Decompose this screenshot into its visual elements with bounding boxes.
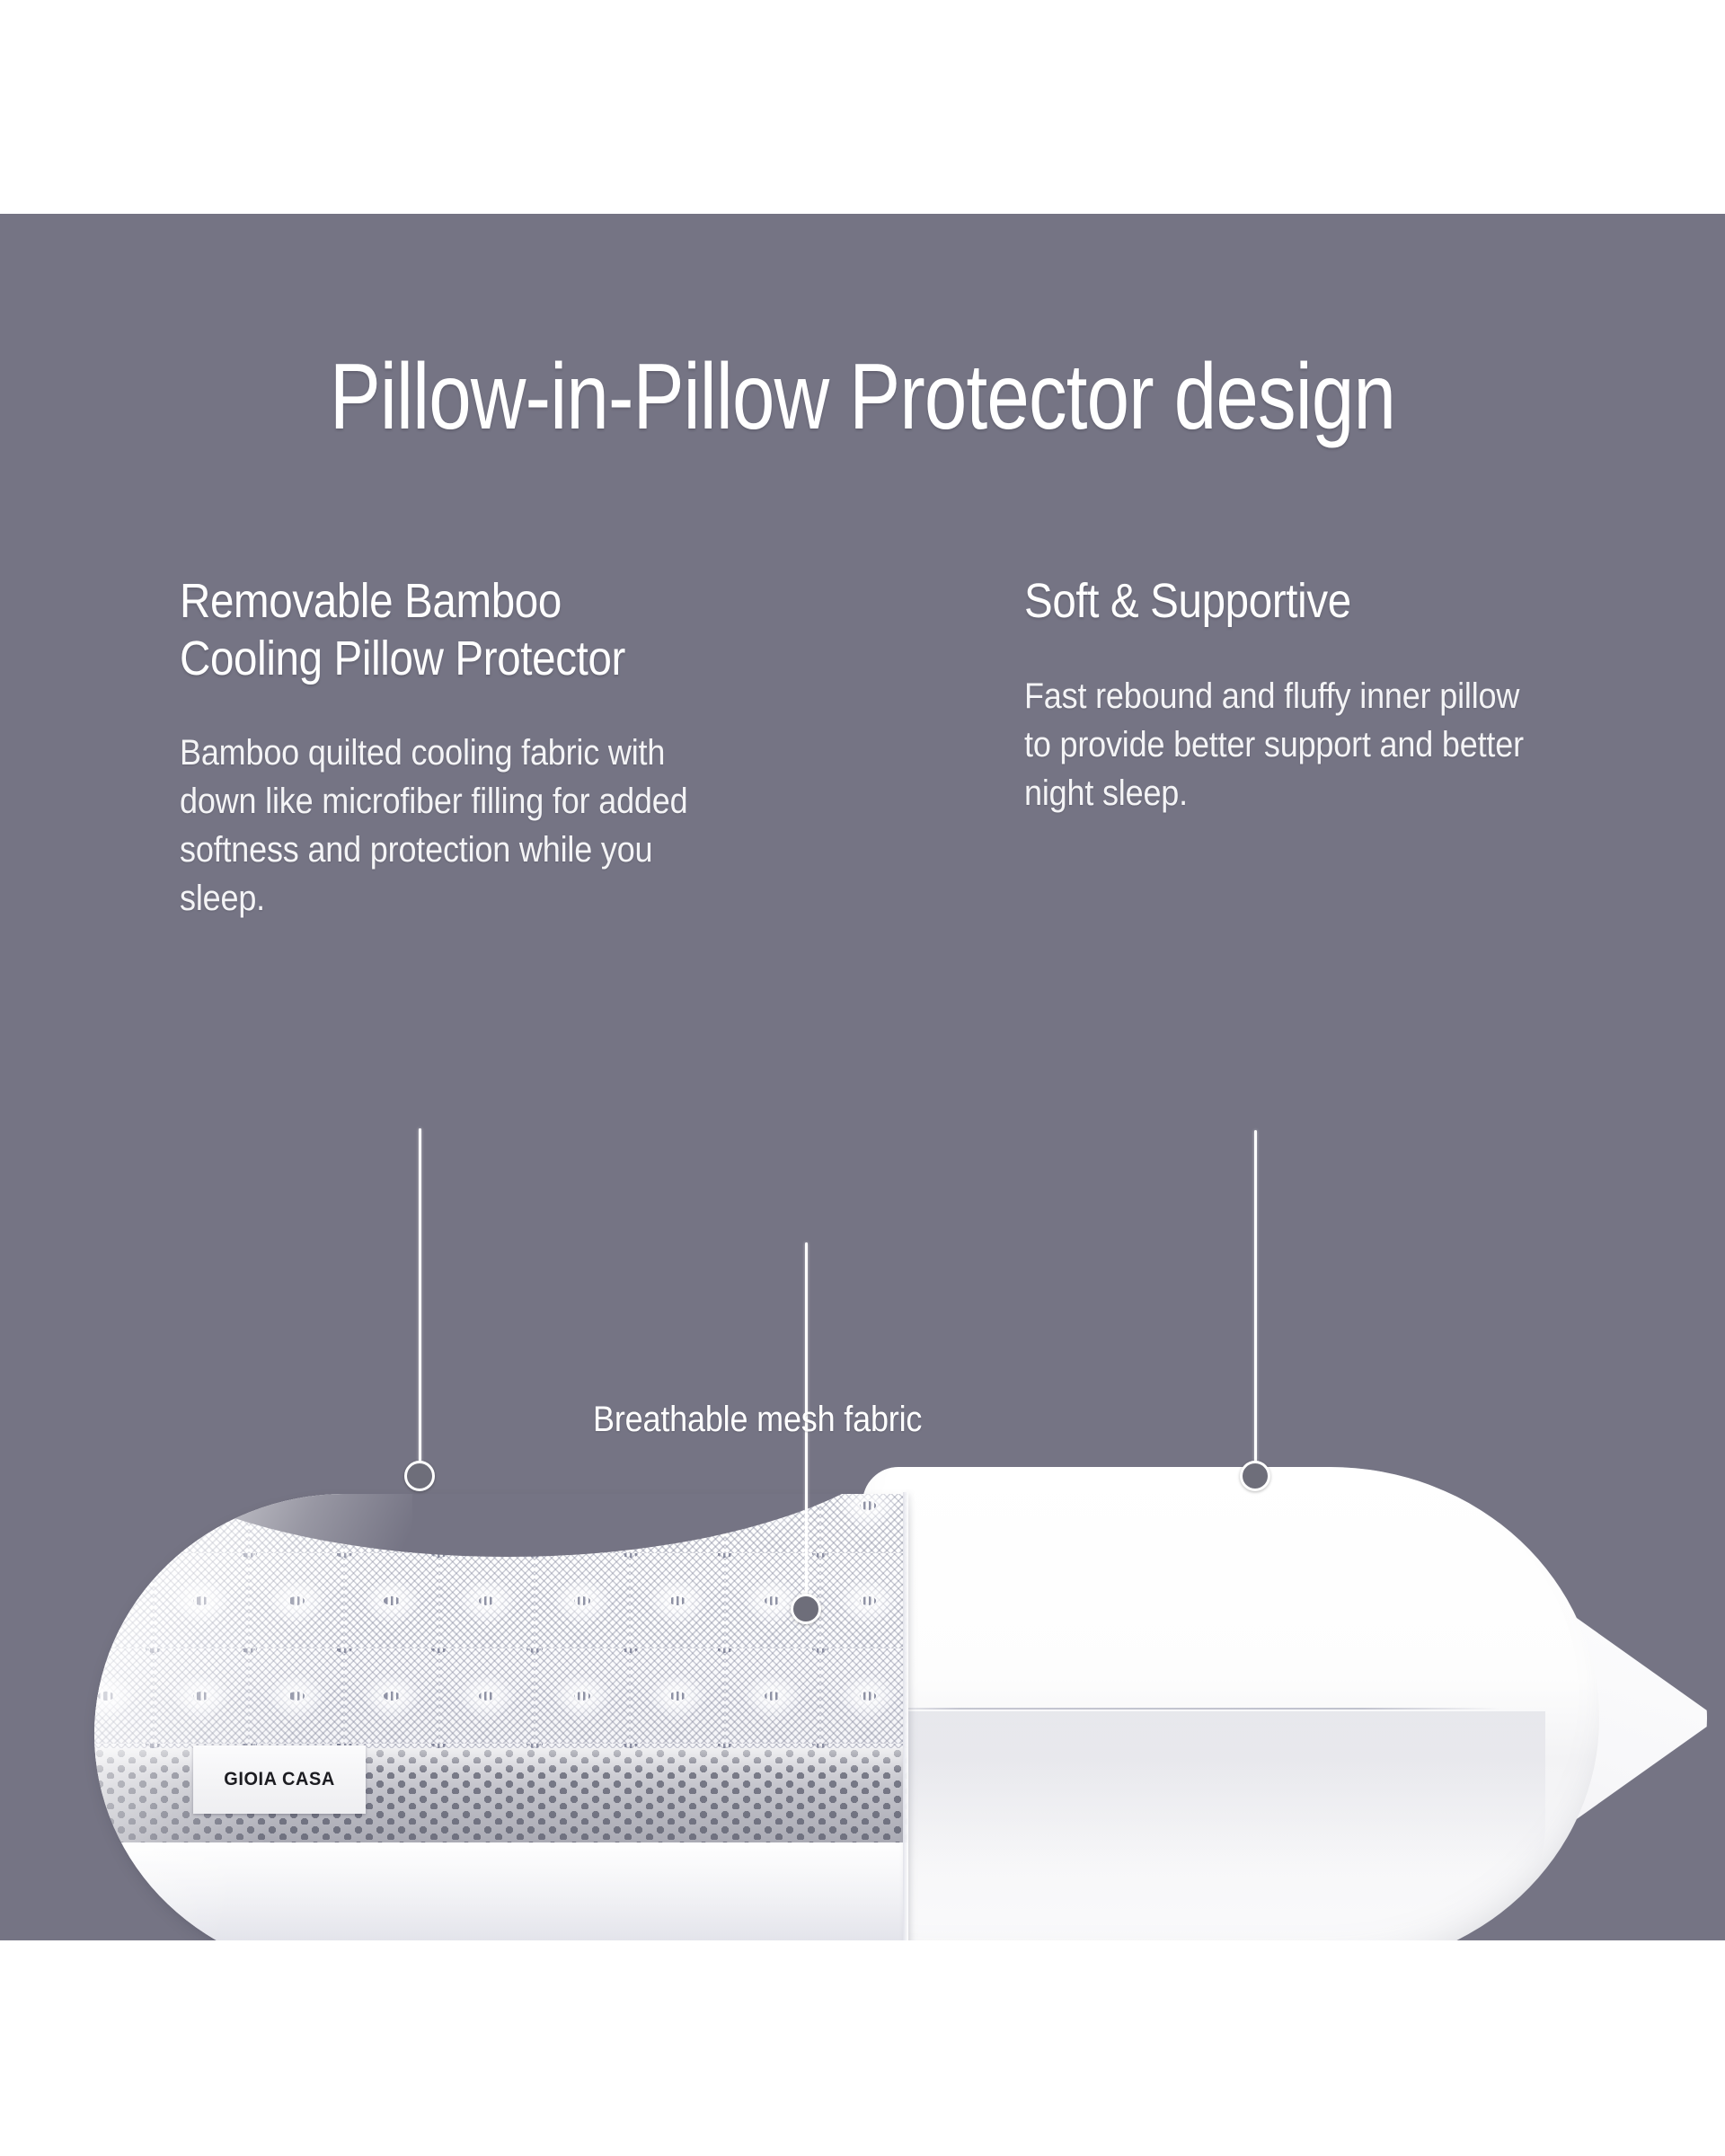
feature-column-left: Removable Bamboo Cooling Pillow Protecto… bbox=[180, 573, 755, 923]
callout-label-breathable-mesh: Breathable mesh fabric bbox=[593, 1401, 922, 1437]
leader-line-inner-pillow bbox=[1254, 1130, 1257, 1468]
page-title: Pillow-in-Pillow Protector design bbox=[155, 350, 1570, 444]
protector-shape bbox=[94, 1494, 907, 1940]
inner-pillow bbox=[862, 1467, 1599, 1940]
pillow-illustration: GIOIA CASA bbox=[0, 214, 1725, 1940]
inner-pillow-body bbox=[862, 1467, 1599, 1940]
quilted-top-face bbox=[94, 1494, 907, 1750]
callout-dot-quilt bbox=[404, 1461, 435, 1491]
gray-content-panel: GIOIA CASA Pillow-in-Pillow Protector de… bbox=[0, 214, 1725, 1940]
leader-line-quilt bbox=[419, 1128, 421, 1468]
brand-label-tag: GIOIA CASA bbox=[193, 1745, 366, 1814]
protector-lower-gusset bbox=[94, 1842, 907, 1940]
inner-pillow-seam bbox=[871, 1708, 1500, 1710]
bamboo-quilted-protector bbox=[94, 1494, 907, 1940]
infographic-canvas: GIOIA CASA Pillow-in-Pillow Protector de… bbox=[0, 0, 1725, 2156]
feature-body-right: Fast rebound and fluffy inner pillow to … bbox=[1024, 672, 1542, 817]
protector-cut-edge bbox=[903, 1492, 908, 1940]
feature-title-left: Removable Bamboo Cooling Pillow Protecto… bbox=[180, 573, 686, 687]
brand-label-text: GIOIA CASA bbox=[224, 1769, 335, 1790]
inner-pillow-shading bbox=[862, 1711, 1545, 1940]
feature-column-right: Soft & Supportive Fast rebound and fluff… bbox=[1024, 573, 1599, 817]
gusset-shading bbox=[94, 1842, 907, 1940]
feature-body-left: Bamboo quilted cooling fabric with down … bbox=[180, 729, 697, 923]
feature-title-right: Soft & Supportive bbox=[1024, 573, 1530, 631]
callout-dot-mesh bbox=[791, 1594, 821, 1624]
callout-dot-inner-pillow bbox=[1240, 1461, 1270, 1491]
